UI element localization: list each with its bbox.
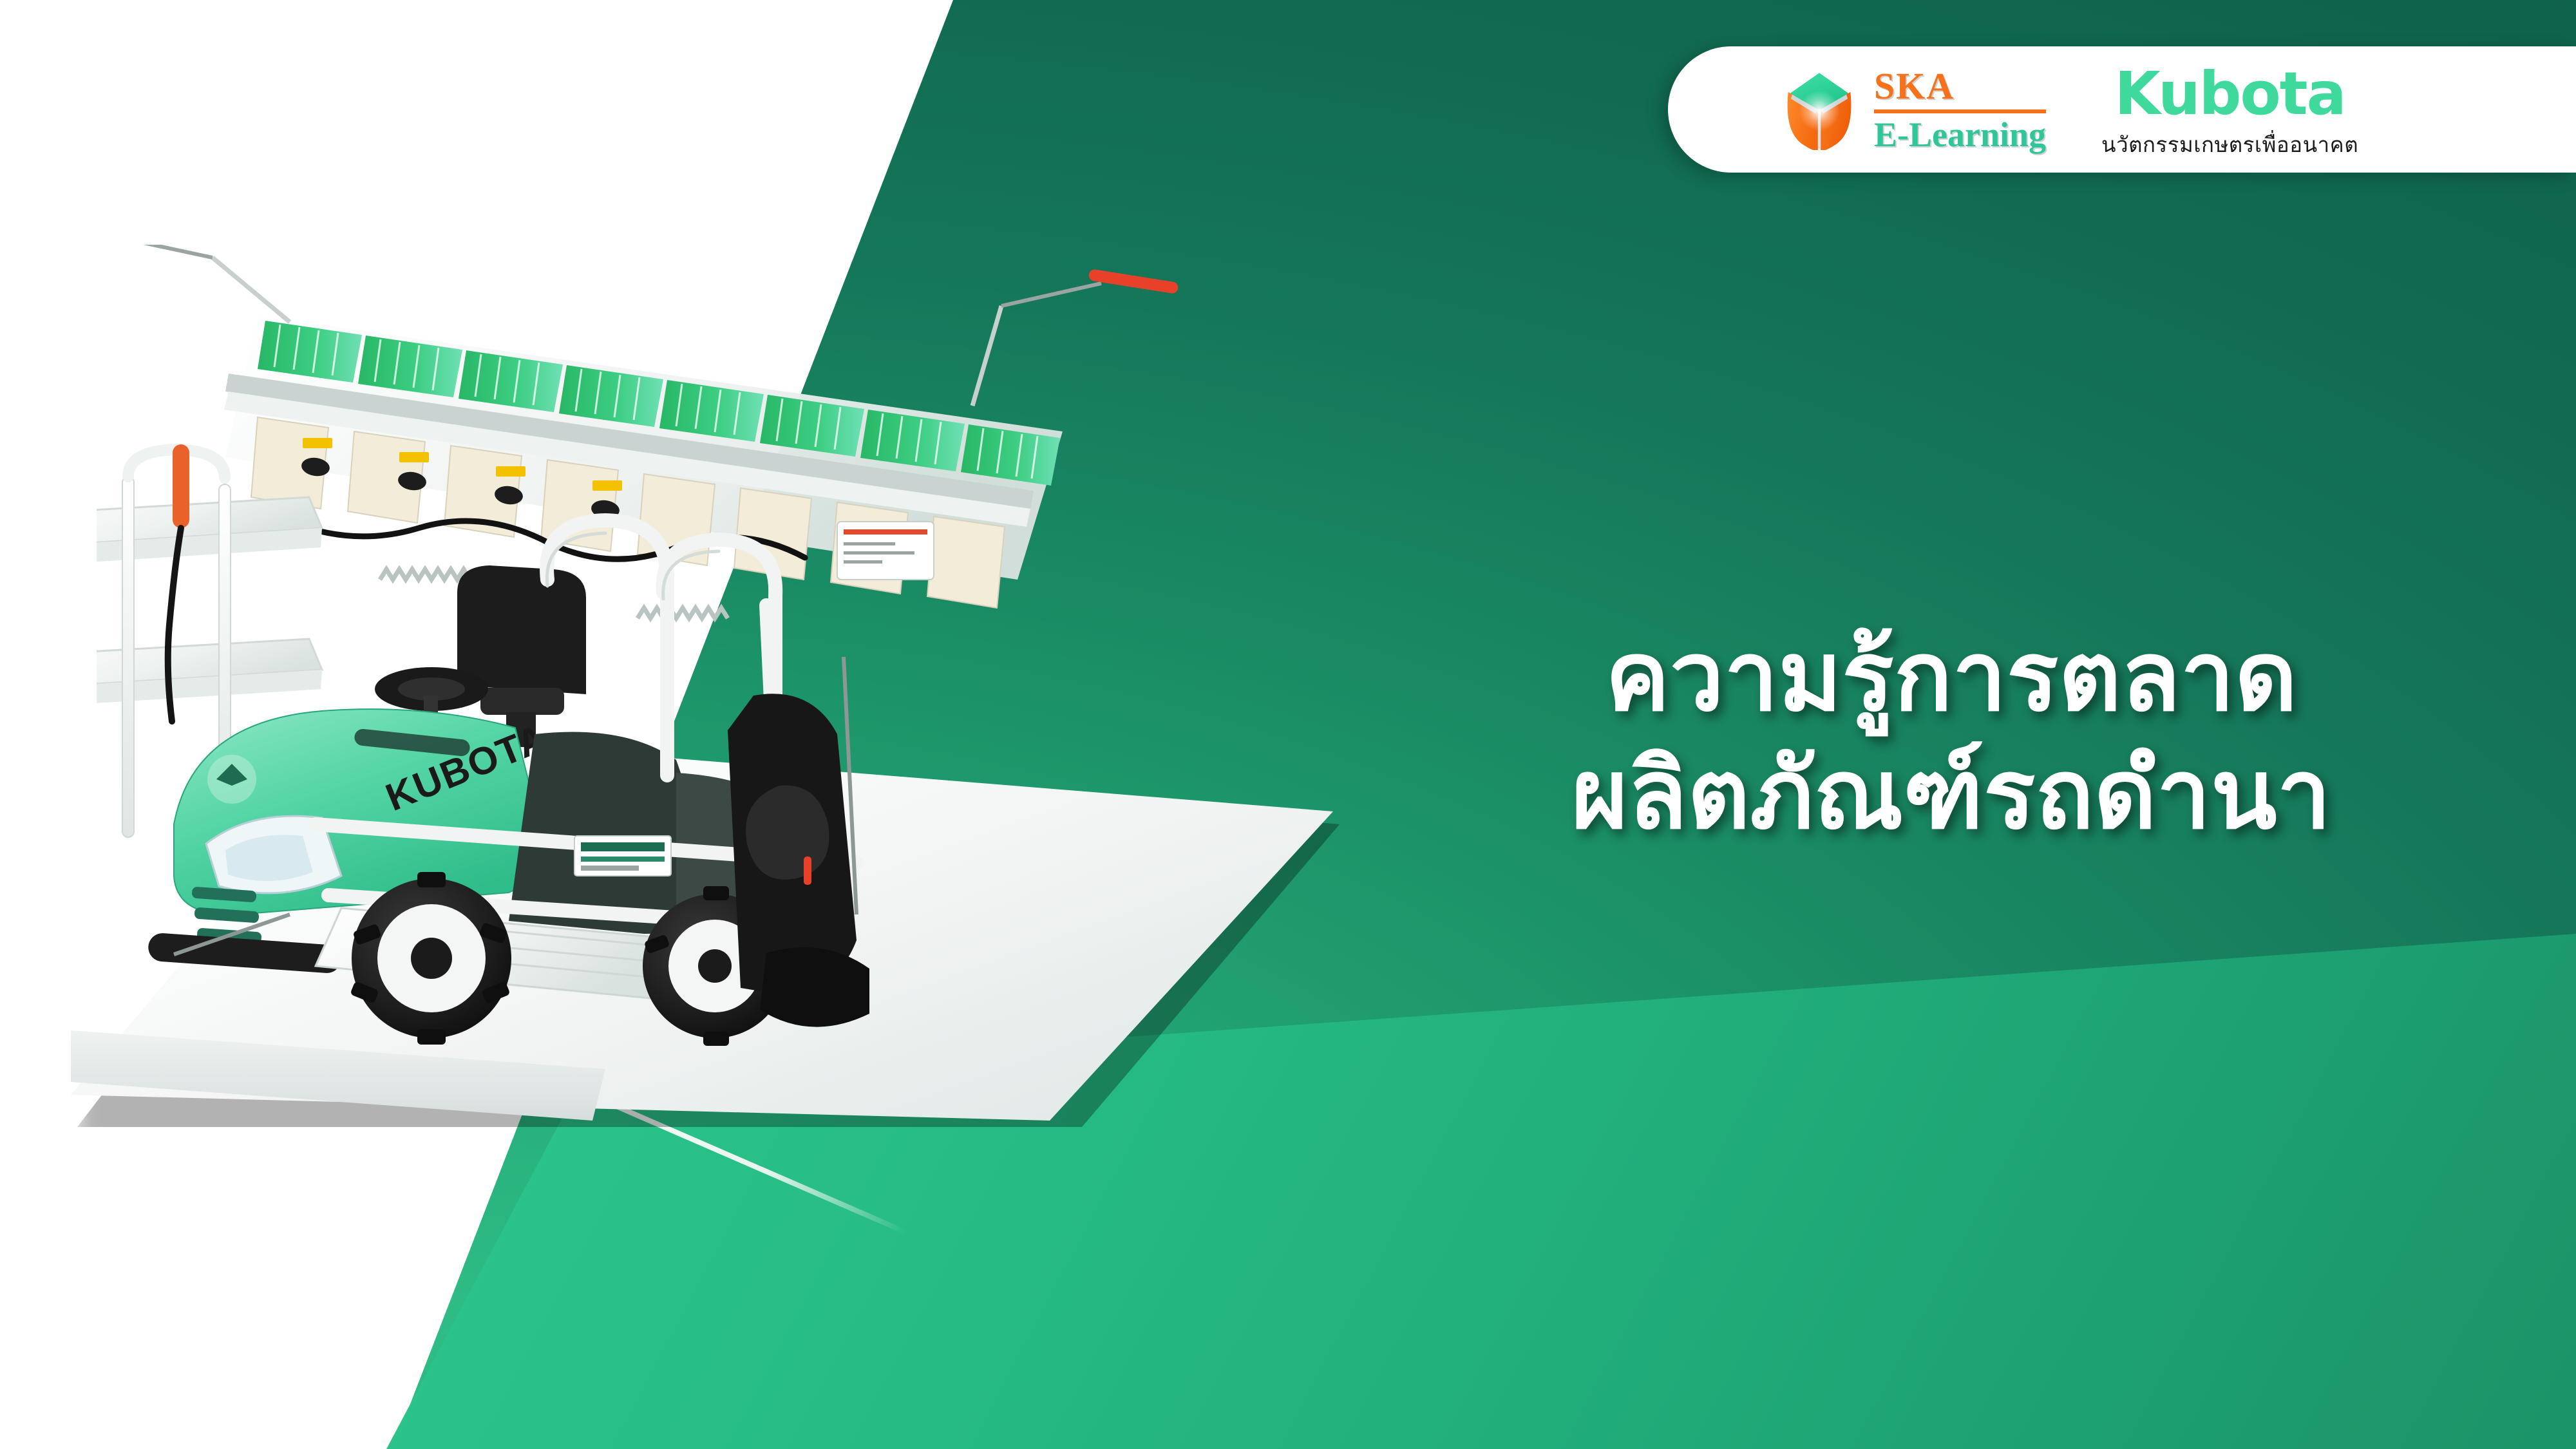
logo-bar: SKA E-Learning Kubota นวัตกรรมเกษตรเพื่อ…: [1668, 46, 2576, 173]
banner-title: ความรู้การตลาด ผลิตภัณฑ์รถดำนา: [1404, 618, 2499, 854]
banner-title-line-1: ความรู้การตลาด: [1404, 618, 2499, 736]
machine-decal: [574, 836, 671, 876]
kubota-tagline: นวัตกรรมเกษตรเพื่ออนาคต: [2101, 134, 2358, 155]
ska-cube-icon: [1779, 69, 1860, 150]
row-marker-left: [97, 245, 290, 322]
ska-wordmark: SKA: [1874, 68, 2046, 105]
product-image-rice-transplanter: KUBOTA: [97, 245, 1320, 1050]
ska-elearning-logo[interactable]: SKA E-Learning: [1779, 68, 2046, 152]
elearning-wordmark: E-Learning: [1874, 117, 2046, 152]
row-marker-right: [972, 269, 1179, 406]
seedling-tray-rack: [97, 245, 1179, 618]
banner-title-line-2: ผลิตภัณฑ์รถดำนา: [1404, 736, 2499, 854]
kubota-logo[interactable]: Kubota นวัตกรรมเกษตรเพื่ออนาคต: [2101, 64, 2358, 155]
banner-canvas: KUBOTA: [0, 0, 2576, 1449]
kubota-wordmark: Kubota: [2114, 64, 2345, 124]
ska-divider-rule: [1874, 109, 2046, 113]
